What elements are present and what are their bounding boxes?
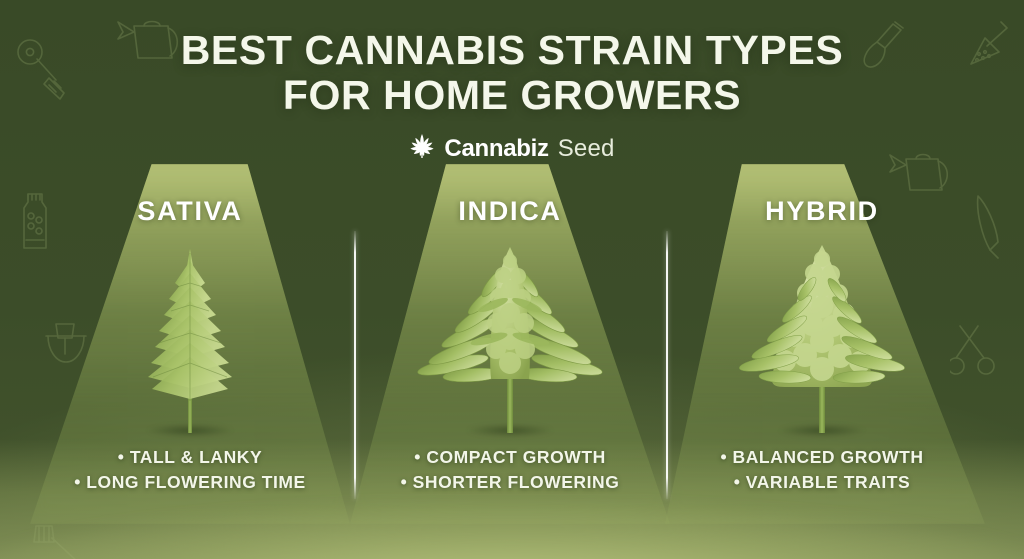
bullet-item: • BALANCED GROWTH	[672, 445, 972, 470]
infographic-canvas: BEST CANNABIS STRAIN TYPES FOR HOME GROW…	[0, 0, 1024, 559]
column-divider-1	[354, 231, 356, 499]
bullet-item: • VARIABLE TRAITS	[672, 470, 972, 495]
bullets-indica: • COMPACT GROWTH • SHORTER FLOWERING	[360, 445, 660, 495]
page-title-line-2: FOR HOME GROWERS	[0, 73, 1024, 118]
bullet-item: • SHORTER FLOWERING	[360, 470, 660, 495]
page-title-line-1: BEST CANNABIS STRAIN TYPES	[0, 28, 1024, 73]
bullet-item: • LONG FLOWERING TIME	[40, 470, 340, 495]
column-title-hybrid: HYBRID	[672, 196, 972, 227]
hybrid-plant-illustration	[672, 233, 972, 433]
column-title-sativa: SATIVA	[40, 196, 340, 227]
cannabis-leaf-icon	[409, 133, 435, 164]
column-sativa: SATIVA	[40, 164, 340, 544]
bullets-sativa: • TALL & LANKY • LONG FLOWERING TIME	[40, 445, 340, 495]
column-indica: INDICA	[360, 164, 660, 544]
sativa-leaf-illustration	[40, 233, 340, 433]
logo-secondary-text: Seed	[558, 135, 615, 163]
column-hybrid: HYBRID	[672, 164, 972, 544]
column-divider-2	[666, 231, 668, 499]
column-title-indica: INDICA	[360, 196, 660, 227]
brand-logo: Cannabiz Seed	[0, 133, 1024, 164]
bullets-hybrid: • BALANCED GROWTH • VARIABLE TRAITS	[672, 445, 972, 495]
logo-brand-text: Cannabiz	[444, 135, 548, 163]
bullet-item: • COMPACT GROWTH	[360, 445, 660, 470]
knife-icon	[968, 190, 1010, 262]
indica-plant-illustration	[360, 233, 660, 433]
bullet-item: • TALL & LANKY	[40, 445, 340, 470]
header: BEST CANNABIS STRAIN TYPES FOR HOME GROW…	[0, 28, 1024, 164]
